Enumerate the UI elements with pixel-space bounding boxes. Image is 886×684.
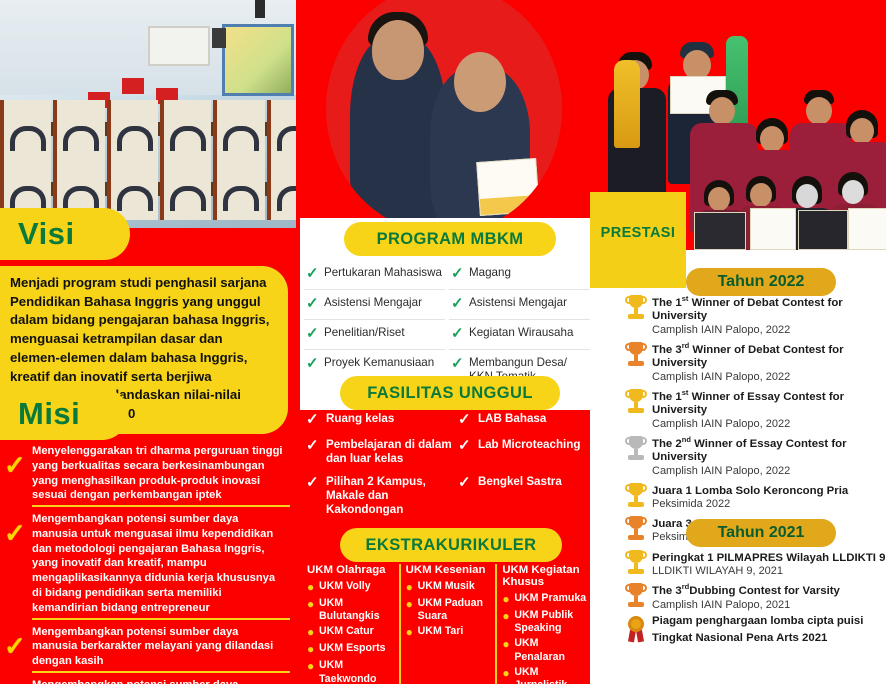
fasilitas-item-label: Ruang kelas — [326, 412, 394, 426]
poster-root: Visi Menjadi program studi penghasil sar… — [0, 0, 886, 684]
achievement-title: Peringkat 1 PILMAPRES Wilayah LLDIKTI 9 — [652, 549, 886, 565]
misi-item-text: Mengembangkan potensi sumber daya manusi… — [32, 625, 290, 673]
misi-item: ✓ Mengembangkan potensi sumber daya manu… — [0, 678, 300, 684]
fasilitas-item-label: LAB Bahasa — [478, 412, 546, 426]
check-icon: ✓ — [451, 266, 469, 282]
achievement-item: Piagam penghargaan lomba cipta puisi Tin… — [620, 615, 886, 645]
year-2021-pill: Tahun 2021 — [686, 519, 836, 547]
photo-speaker — [212, 28, 226, 48]
misi-heading-pill: Misi — [0, 388, 128, 440]
ekskul-item-label: UKM Paduan Suara — [418, 597, 491, 623]
photo-face — [850, 118, 874, 144]
photo-booth — [267, 160, 300, 220]
bullet-icon: ● — [406, 597, 418, 612]
photo-monitor — [122, 78, 144, 94]
fasilitas-item-label: Pilihan 2 Kampus, Makale dan Kakondongan — [326, 475, 456, 517]
trophy-gold-icon — [620, 549, 652, 576]
achievement-title: The 1st Winner of Essay Contest for Univ… — [652, 388, 886, 418]
ekskul-item-label: UKM Esports — [319, 642, 386, 655]
fasilitas-item: ✓ Pilihan 2 Kampus, Makale dan Kakondong… — [306, 475, 456, 517]
mbkm-item: ✓ Kegiatan Wirausaha — [449, 320, 590, 350]
fasilitas-item: ✓ Bengkel Sastra — [458, 475, 590, 517]
achievement-title: The 3rd Winner of Debat Contest for Univ… — [652, 341, 886, 371]
photo-mask — [796, 184, 818, 208]
check-icon: ✓ — [306, 296, 324, 312]
mbkm-item: ✓ Asistensi Mengajar — [304, 290, 445, 320]
ekskul-column-heading: UKM Kegiatan Khusus — [502, 564, 587, 588]
ekskul-column-kesenian: UKM Kesenian ●UKM Musik ●UKM Paduan Suar… — [399, 564, 496, 684]
mbkm-item: ✓ Penelitian/Riset — [304, 320, 445, 350]
bullet-icon: ● — [307, 580, 319, 595]
medal-ribbon-icon — [620, 615, 652, 642]
trophy-bronze-icon — [620, 341, 652, 368]
trophy-gold-icon — [620, 388, 652, 415]
ekskul-item: ●UKM Esports — [307, 642, 394, 657]
ekstrakurikuler-columns: UKM Olahraga ●UKM Volly ●UKM Bulutangkis… — [302, 564, 592, 684]
check-icon: ✓ — [458, 475, 478, 492]
ekskul-item: ●UKM Taekwondo — [307, 659, 394, 684]
achievement-title: The 1st Winner of Debat Contest for Univ… — [652, 294, 886, 324]
mbkm-item-label: Pertukaran Mahasiswa — [324, 266, 442, 280]
photo-whiteboard — [148, 26, 210, 66]
bullet-icon: ● — [406, 625, 418, 640]
photo-certificate — [750, 208, 796, 250]
bullet-icon: ● — [502, 666, 514, 681]
trophy-gold-icon — [620, 294, 652, 321]
mbkm-item: ✓ Asistensi Mengajar — [449, 290, 590, 320]
check-icon: ✓ — [306, 412, 326, 429]
achievement-title: Piagam penghargaan lomba cipta puisi Tin… — [652, 615, 886, 645]
photo-booth — [213, 100, 264, 160]
ekskul-item: ●UKM Penalaran — [502, 637, 587, 663]
year-2022-pill: Tahun 2022 — [686, 268, 836, 296]
photo-booth-row — [0, 100, 300, 160]
achievement-subtitle: Camplish IAIN Palopo, 2021 — [652, 599, 886, 613]
achievement-item: The 3rd Winner of Debat Contest for Univ… — [620, 341, 886, 385]
check-icon: ✓ — [451, 356, 469, 372]
ekskul-item-label: UKM Penalaran — [514, 637, 587, 663]
ekskul-item-label: UKM Jurnalistik — [514, 666, 587, 684]
ekskul-item-label: UKM Taekwondo — [319, 659, 394, 684]
fasilitas-item: ✓ LAB Bahasa — [458, 412, 590, 429]
ekskul-item: ●UKM Pramuka — [502, 592, 587, 607]
photo-laptop — [798, 210, 848, 250]
achievement-item: The 1st Winner of Essay Contest for Univ… — [620, 388, 886, 432]
ekskul-column-olahraga: UKM Olahraga ●UKM Volly ●UKM Bulutangkis… — [302, 564, 399, 684]
left-column: Visi Menjadi program studi penghasil sar… — [0, 0, 330, 684]
achievement-subtitle: Camplish IAIN Palopo, 2022 — [652, 371, 886, 385]
trophy-bronze-icon — [620, 582, 652, 609]
bullet-icon: ● — [307, 625, 319, 640]
photo-trophy — [614, 60, 640, 148]
program-mbkm-title: PROGRAM MBKM — [344, 222, 556, 256]
check-icon: ✓ — [458, 412, 478, 429]
achievement-subtitle: LLDIKTI WILAYAH 9, 2021 — [652, 565, 886, 579]
ekskul-item: ●UKM Bulutangkis — [307, 597, 394, 623]
check-icon: ✓ — [306, 438, 326, 455]
misi-item-text: Menyelenggarakan tri dharma perguruan ti… — [32, 444, 290, 507]
check-icon: ✓ — [4, 520, 32, 546]
photo-face — [806, 97, 832, 125]
fasilitas-unggul-title: FASILITAS UNGGUL — [340, 376, 560, 410]
ekskul-item-label: UKM Volly — [319, 580, 371, 593]
ekskul-item: ●UKM Musik — [406, 580, 491, 595]
achievement-title: Juara 1 Lomba Solo Keroncong Pria — [652, 482, 886, 498]
bullet-icon: ● — [307, 659, 319, 674]
mbkm-item: ✓ Magang — [449, 260, 590, 290]
check-icon: ✓ — [458, 438, 478, 455]
photo-mask — [842, 180, 864, 204]
middle-column: PROGRAM MBKM ✓ Pertukaran Mahasiswa ✓ Ma… — [296, 0, 596, 684]
fasilitas-item-label: Bengkel Sastra — [478, 475, 562, 489]
bullet-icon: ● — [406, 580, 418, 595]
ekskul-item-label: UKM Tari — [418, 625, 464, 638]
achievement-item: Peringkat 1 PILMAPRES Wilayah LLDIKTI 9 … — [620, 549, 886, 579]
achievements-2021-list: Peringkat 1 PILMAPRES Wilayah LLDIKTI 9 … — [620, 549, 886, 649]
misi-item: ✓ Mengembangkan potensi sumber daya manu… — [0, 625, 300, 673]
photo-booth — [160, 100, 211, 160]
fasilitas-item: ✓ Ruang kelas — [306, 412, 456, 429]
achievement-item: The 2nd Winner of Essay Contest for Univ… — [620, 435, 886, 479]
misi-item: ✓ Mengembangkan potensi sumber daya manu… — [0, 512, 300, 619]
misi-heading-label: Misi — [0, 396, 80, 432]
check-icon: ✓ — [451, 326, 469, 342]
bullet-icon: ● — [307, 597, 319, 612]
photo-face — [750, 183, 772, 207]
ekskul-column-kegiatan-khusus: UKM Kegiatan Khusus ●UKM Pramuka ●UKM Pu… — [495, 564, 592, 684]
misi-item: ✓ Menyelenggarakan tri dharma perguruan … — [0, 444, 300, 507]
visi-heading-pill: Visi — [0, 208, 130, 260]
check-icon: ✓ — [4, 452, 32, 478]
check-icon: ✓ — [451, 296, 469, 312]
photo-booth — [107, 100, 158, 160]
ekstrakurikuler-title: EKSTRAKURIKULER — [340, 528, 562, 562]
mbkm-item: ✓ Pertukaran Mahasiswa — [304, 260, 445, 290]
ekskul-column-heading: UKM Olahraga — [307, 564, 394, 576]
bullet-icon: ● — [502, 637, 514, 652]
achievement-item: The 1st Winner of Debat Contest for Univ… — [620, 294, 886, 338]
visi-heading-label: Visi — [0, 216, 75, 252]
photo-booth — [0, 100, 51, 160]
misi-item-text: Mengembangkan potensi sumber daya manusi… — [32, 512, 290, 619]
achievement-item: Juara 1 Lomba Solo Keroncong Pria Peksim… — [620, 482, 886, 512]
trophy-silver-icon — [620, 435, 652, 462]
fasilitas-grid: ✓ Ruang kelas ✓ LAB Bahasa ✓ Pembelajara… — [306, 412, 588, 526]
ekskul-item-label: UKM Pramuka — [514, 592, 586, 605]
achievement-subtitle: Camplish IAIN Palopo, 2022 — [652, 324, 886, 338]
mbkm-grid: ✓ Pertukaran Mahasiswa ✓ Magang ✓ Asiste… — [304, 260, 590, 390]
ekskul-item: ●UKM Jurnalistik — [502, 666, 587, 684]
ekskul-item-label: UKM Catur — [319, 625, 374, 638]
prestasi-badge: PRESTASI — [590, 192, 686, 274]
check-icon: ✓ — [4, 633, 32, 659]
fasilitas-item-label: Pembelajaran di dalam dan luar kelas — [326, 438, 456, 466]
prestasi-badge-label: PRESTASI — [590, 192, 686, 274]
achievement-item: The 3rdDubbing Contest for Varsity Campl… — [620, 582, 886, 612]
bullet-icon: ● — [502, 592, 514, 607]
photo-student-face — [454, 52, 506, 112]
fasilitas-item: ✓ Pembelajaran di dalam dan luar kelas — [306, 438, 456, 466]
check-icon: ✓ — [306, 326, 324, 342]
achievement-title: The 3rdDubbing Contest for Varsity — [652, 582, 886, 598]
mbkm-item-label: Proyek Kemanusiaan — [324, 356, 434, 370]
achievement-subtitle: Camplish IAIN Palopo, 2022 — [652, 418, 886, 432]
photo-booth — [160, 160, 211, 220]
ekskul-item-label: UKM Bulutangkis — [319, 597, 394, 623]
photo-face — [708, 187, 730, 211]
fasilitas-item-label: Lab Microteaching — [478, 438, 580, 452]
photo-booth — [267, 100, 300, 160]
bullet-icon: ● — [502, 609, 514, 624]
trophy-gold-icon — [620, 482, 652, 509]
check-icon: ✓ — [306, 266, 324, 282]
ekskul-item-label: UKM Publik Speaking — [514, 609, 587, 635]
trophy-bronze-icon — [620, 515, 652, 542]
mbkm-item-label: Kegiatan Wirausaha — [469, 326, 573, 340]
mbkm-item-label: Asistensi Mengajar — [324, 296, 422, 310]
ekskul-column-heading: UKM Kesenian — [406, 564, 491, 576]
photo-laptop — [694, 212, 746, 250]
photo-projector — [255, 0, 265, 18]
mbkm-item-label: Penelitian/Riset — [324, 326, 405, 340]
check-icon: ✓ — [306, 356, 324, 372]
photo-booth — [213, 160, 264, 220]
check-icon: ✓ — [306, 475, 326, 492]
achievements-2022-list: The 1st Winner of Debat Contest for Univ… — [620, 294, 886, 548]
right-column: PRESTASI Tahun 2022 The 1st Winner of De… — [590, 0, 886, 684]
ekskul-item: ●UKM Tari — [406, 625, 491, 640]
fasilitas-item: ✓ Lab Microteaching — [458, 438, 590, 466]
two-students-with-certificate-photo — [326, 0, 562, 234]
misi-list: ✓ Menyelenggarakan tri dharma perguruan … — [0, 444, 300, 684]
ekskul-item: ●UKM Volly — [307, 580, 394, 595]
mbkm-item-label: Asistensi Mengajar — [469, 296, 567, 310]
photo-window — [222, 24, 294, 96]
achievement-subtitle: Camplish IAIN Palopo, 2022 — [652, 465, 886, 479]
misi-item-text: Mengembangkan potensi sumber daya manusi… — [32, 678, 290, 684]
ekskul-item: ●UKM Publik Speaking — [502, 609, 587, 635]
photo-face — [709, 97, 735, 125]
language-laboratory-photo — [0, 0, 300, 228]
achievement-title: The 2nd Winner of Essay Contest for Univ… — [652, 435, 886, 465]
photo-face — [760, 126, 784, 152]
mbkm-item-label: Magang — [469, 266, 511, 280]
bullet-icon: ● — [307, 642, 319, 657]
photo-booth — [53, 100, 104, 160]
ekskul-item-label: UKM Musik — [418, 580, 475, 593]
ekskul-item: ●UKM Paduan Suara — [406, 597, 491, 623]
photo-student-face — [372, 20, 424, 80]
photo-certificate — [848, 208, 886, 250]
achievement-subtitle: Peksimida 2022 — [652, 498, 886, 512]
photo-certificate — [476, 158, 540, 216]
ekskul-item: ●UKM Catur — [307, 625, 394, 640]
